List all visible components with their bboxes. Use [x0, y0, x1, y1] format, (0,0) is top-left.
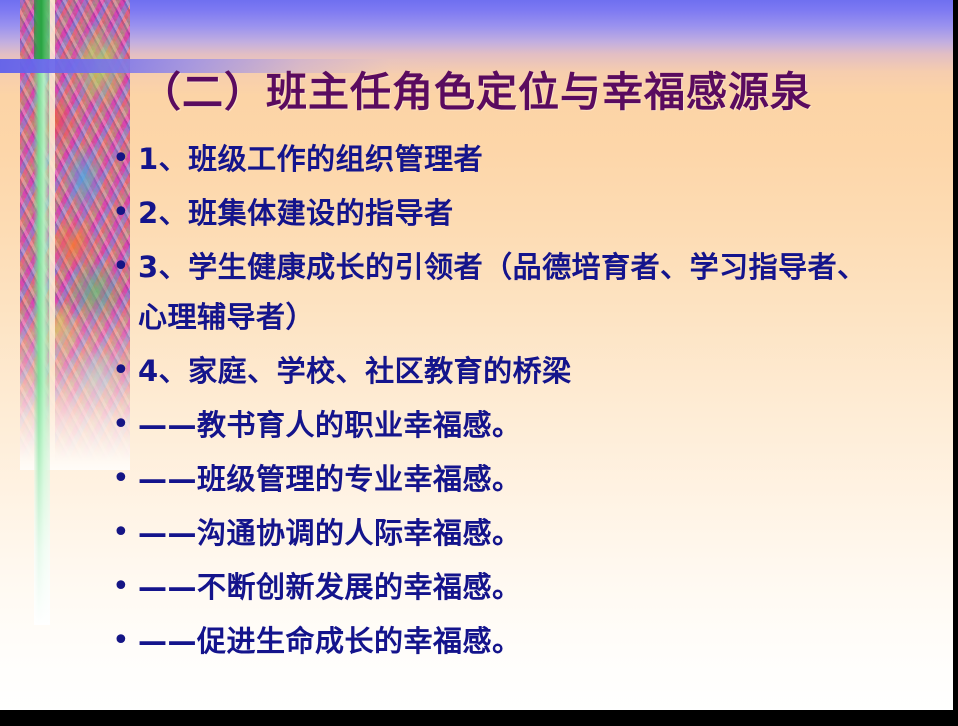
list-item: • ——教书育人的职业幸福感。 — [108, 400, 948, 450]
list-item-text: 1、班级工作的组织管理者 — [138, 134, 948, 184]
bullet-dot-icon: • — [108, 454, 138, 504]
list-item-text: ——促进生命成长的幸福感。 — [138, 616, 948, 666]
list-item-text: ——班级管理的专业幸福感。 — [138, 454, 948, 504]
bullet-dot-icon: • — [108, 400, 138, 450]
list-item-text: ——不断创新发展的幸福感。 — [138, 562, 948, 612]
list-item-text: ——沟通协调的人际幸福感。 — [138, 508, 948, 558]
slide-frame-right — [953, 0, 958, 726]
slide-title: （二）班主任角色定位与幸福感源泉 — [140, 58, 940, 118]
list-item: • ——不断创新发展的幸福感。 — [108, 562, 948, 612]
bullet-dot-icon: • — [108, 188, 138, 238]
bullet-dot-icon: • — [108, 346, 138, 396]
bullet-list: • 1、班级工作的组织管理者 • 2、班集体建设的指导者 • 3、学生健康成长的… — [108, 134, 948, 670]
list-item: • 3、学生健康成长的引领者（品德培育者、学习指导者、 心理辅导者） — [108, 242, 948, 342]
list-item: • 2、班集体建设的指导者 — [108, 188, 948, 238]
list-item: • 1、班级工作的组织管理者 — [108, 134, 948, 184]
list-item-text: 4、家庭、学校、社区教育的桥梁 — [138, 346, 948, 396]
bullet-dot-icon: • — [108, 508, 138, 558]
bullet-dot-icon: • — [108, 134, 138, 184]
list-item: • ——班级管理的专业幸福感。 — [108, 454, 948, 504]
list-item-text: 3、学生健康成长的引领者（品德培育者、学习指导者、 心理辅导者） — [138, 242, 948, 342]
bullet-dot-icon: • — [108, 616, 138, 666]
list-item: • 4、家庭、学校、社区教育的桥梁 — [108, 346, 948, 396]
list-item-text-line2: 心理辅导者） — [138, 300, 315, 334]
presentation-slide: （二）班主任角色定位与幸福感源泉 • 1、班级工作的组织管理者 • 2、班集体建… — [0, 0, 958, 726]
list-item-text: ——教书育人的职业幸福感。 — [138, 400, 948, 450]
bullet-dot-icon: • — [108, 242, 138, 292]
green-ribbon-fade-overlay — [34, 0, 50, 625]
list-item: • ——沟通协调的人际幸福感。 — [108, 508, 948, 558]
slide-frame-bottom — [0, 710, 958, 726]
list-item-text-line1: 3、学生健康成长的引领者（品德培育者、学习指导者、 — [138, 250, 867, 284]
list-item: • ——促进生命成长的幸福感。 — [108, 616, 948, 666]
bullet-dot-icon: • — [108, 562, 138, 612]
list-item-text: 2、班集体建设的指导者 — [138, 188, 948, 238]
